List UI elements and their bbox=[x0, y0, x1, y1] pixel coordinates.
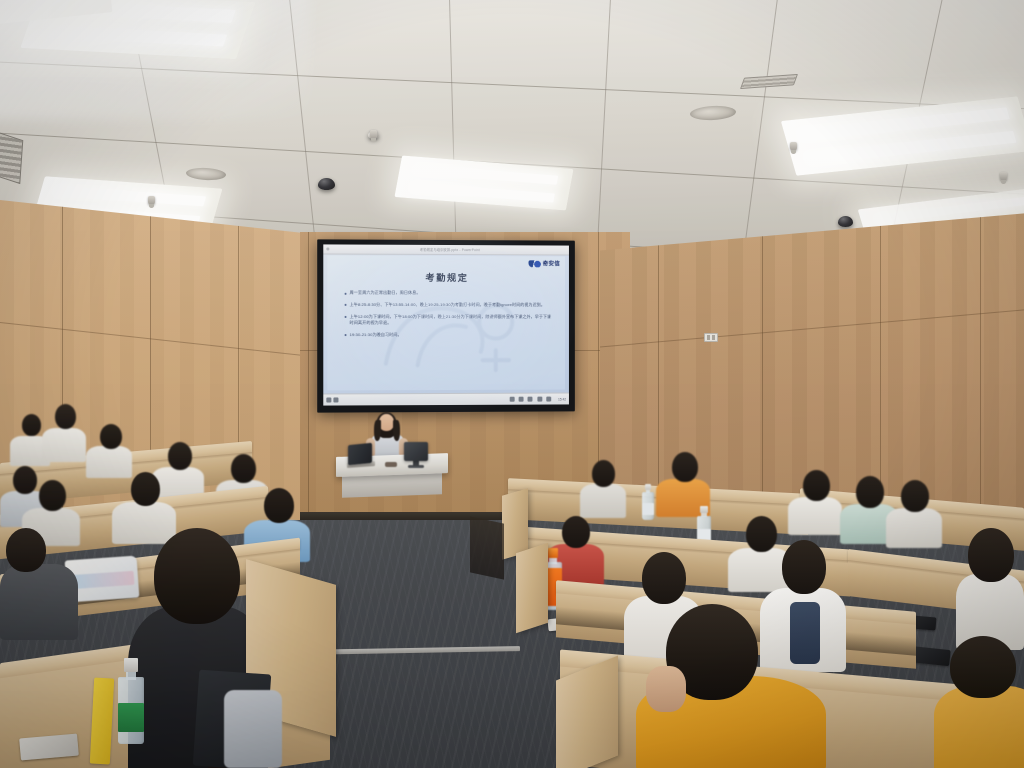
bottle-label bbox=[642, 503, 654, 515]
app-icon[interactable] bbox=[519, 397, 524, 402]
person-body bbox=[788, 497, 842, 535]
projected-desktop: 考勤规定与培训安排.pptx - PowerPoint 奇安信 考勤规定 bbox=[323, 244, 569, 405]
audience-member bbox=[580, 460, 626, 516]
person-body bbox=[934, 686, 1024, 768]
ceiling-speaker bbox=[186, 167, 227, 181]
audience-member bbox=[886, 480, 942, 544]
person-body bbox=[580, 484, 626, 518]
bag-print bbox=[70, 571, 134, 590]
person-head bbox=[39, 480, 66, 511]
person-hand bbox=[646, 666, 686, 712]
audience-member-foreground bbox=[636, 604, 826, 768]
search-icon[interactable] bbox=[334, 397, 339, 402]
projection-screen: 考勤规定与培训安排.pptx - PowerPoint 奇安信 考勤规定 bbox=[317, 239, 575, 412]
ceiling-speaker bbox=[690, 105, 737, 121]
ceiling-panel-light bbox=[781, 96, 1024, 176]
bullet-dot-icon bbox=[345, 292, 347, 294]
slide-bullet: 上午12:00为下课时间，下午18:00为下课时间，晚上21:30分为下课时间，… bbox=[345, 313, 556, 326]
company-logo: 奇安信 bbox=[528, 259, 560, 267]
slide-bullet-list: 周一至周六为正常出勤日，周日休息。 上午8:25-8:30分、下午13:55-1… bbox=[345, 290, 556, 344]
person-body bbox=[0, 564, 78, 640]
bottle-label bbox=[118, 703, 144, 732]
air-vent bbox=[0, 132, 23, 184]
slide-bullet-text: 上午8:25-8:30分、下午13:55-14:00、晚上19:25-19:30… bbox=[350, 302, 545, 309]
person-head bbox=[901, 480, 929, 512]
windows-taskbar[interactable]: 15:42 bbox=[323, 393, 569, 406]
sprinkler-head bbox=[1000, 172, 1007, 181]
slide-bullet-text: 19:30-21:30为晚自习时间。 bbox=[350, 332, 402, 338]
person-head bbox=[55, 404, 76, 429]
person-head bbox=[131, 472, 160, 506]
person-head bbox=[856, 476, 884, 508]
presenter-head bbox=[379, 414, 394, 431]
bottle-cap bbox=[124, 658, 139, 672]
window-dot bbox=[326, 247, 329, 250]
person-head bbox=[168, 442, 192, 470]
person-head bbox=[22, 414, 41, 436]
presenter-hair-strand bbox=[393, 420, 400, 441]
slide-bullet-text: 上午12:00为下课时间，下午18:00为下课时间，晚上21:30分为下课时间，… bbox=[350, 313, 556, 326]
slide-title: 考勤规定 bbox=[327, 270, 565, 285]
bottle-cap bbox=[645, 484, 652, 490]
person-head bbox=[154, 528, 240, 624]
laptop[interactable] bbox=[348, 444, 374, 468]
air-vent bbox=[740, 74, 798, 89]
wall-outlet[interactable] bbox=[704, 333, 718, 342]
dome-camera-icon bbox=[838, 216, 853, 227]
start-button-icon[interactable] bbox=[326, 397, 331, 402]
presentation-slide: 奇安信 考勤规定 周一至周六为正常出勤日，周日休息。 上午8:25-8:30分、… bbox=[327, 256, 565, 391]
lecture-hall-photo: 考勤规定与培训安排.pptx - PowerPoint 奇安信 考勤规定 bbox=[0, 0, 1024, 768]
taskbar-clock: 15:42 bbox=[558, 397, 566, 401]
desk-divider bbox=[502, 488, 528, 559]
ceiling-panel-light bbox=[394, 155, 573, 210]
sprinkler-head bbox=[370, 130, 377, 139]
bullet-dot-icon bbox=[345, 304, 347, 306]
audience-member bbox=[0, 528, 78, 638]
person-head bbox=[672, 452, 698, 482]
desk-divider bbox=[516, 543, 548, 633]
backpack bbox=[224, 690, 282, 768]
person-head bbox=[6, 528, 46, 572]
audience-member bbox=[656, 452, 710, 514]
audience-member bbox=[956, 528, 1024, 646]
external-monitor bbox=[404, 442, 428, 468]
slide-bullet: 19:30-21:30为晚自习时间。 bbox=[345, 332, 556, 338]
presenter-hair-strand bbox=[374, 420, 381, 441]
audience-member bbox=[934, 636, 1024, 768]
audience-member bbox=[788, 470, 842, 532]
logo-company-name: 奇安信 bbox=[543, 259, 560, 267]
daylight-glare bbox=[0, 0, 310, 120]
sprinkler-head bbox=[148, 196, 155, 205]
person-head bbox=[950, 636, 1016, 698]
person-head bbox=[803, 470, 830, 501]
bottle-cap bbox=[700, 506, 708, 513]
bullet-dot-icon bbox=[345, 334, 347, 336]
logo-mark-icon bbox=[528, 260, 541, 267]
slide-bullet: 上午8:25-8:30分、下午13:55-14:00、晚上19:25-19:30… bbox=[345, 302, 556, 309]
monitor-screen bbox=[404, 442, 428, 461]
app-icon[interactable] bbox=[528, 397, 533, 402]
bottle-cap bbox=[548, 548, 558, 558]
water-bottle bbox=[118, 658, 144, 744]
person-head bbox=[562, 516, 590, 548]
app-icon[interactable] bbox=[510, 397, 515, 402]
person-head bbox=[592, 460, 615, 487]
desk-object bbox=[385, 462, 397, 467]
person-body bbox=[42, 428, 86, 462]
person-body bbox=[886, 508, 942, 548]
person-head bbox=[100, 424, 122, 449]
laptop-lid bbox=[348, 443, 372, 466]
person-head bbox=[231, 454, 256, 483]
desk-underside bbox=[470, 516, 504, 579]
water-bottle bbox=[642, 484, 654, 520]
sprinkler-head bbox=[790, 142, 797, 151]
slide-bullet-text: 周一至周六为正常出勤日，周日休息。 bbox=[350, 290, 421, 296]
app-icon[interactable] bbox=[537, 397, 542, 402]
audience-member bbox=[42, 404, 86, 460]
audience-member bbox=[86, 424, 132, 476]
app-window-title: 考勤规定与培训安排.pptx - PowerPoint bbox=[420, 247, 480, 252]
app-icon[interactable] bbox=[546, 397, 551, 402]
app-window-titlebar: 考勤规定与培训安排.pptx - PowerPoint bbox=[323, 244, 569, 255]
person-head bbox=[264, 488, 294, 523]
dome-camera-icon bbox=[318, 178, 335, 190]
bullet-dot-icon bbox=[345, 316, 347, 318]
person-head bbox=[642, 552, 686, 604]
person-head bbox=[782, 540, 826, 594]
slide-bullet: 周一至周六为正常出勤日，周日休息。 bbox=[345, 290, 556, 297]
taskbar-app-icons[interactable]: 15:42 bbox=[510, 397, 566, 402]
person-head bbox=[968, 528, 1014, 582]
